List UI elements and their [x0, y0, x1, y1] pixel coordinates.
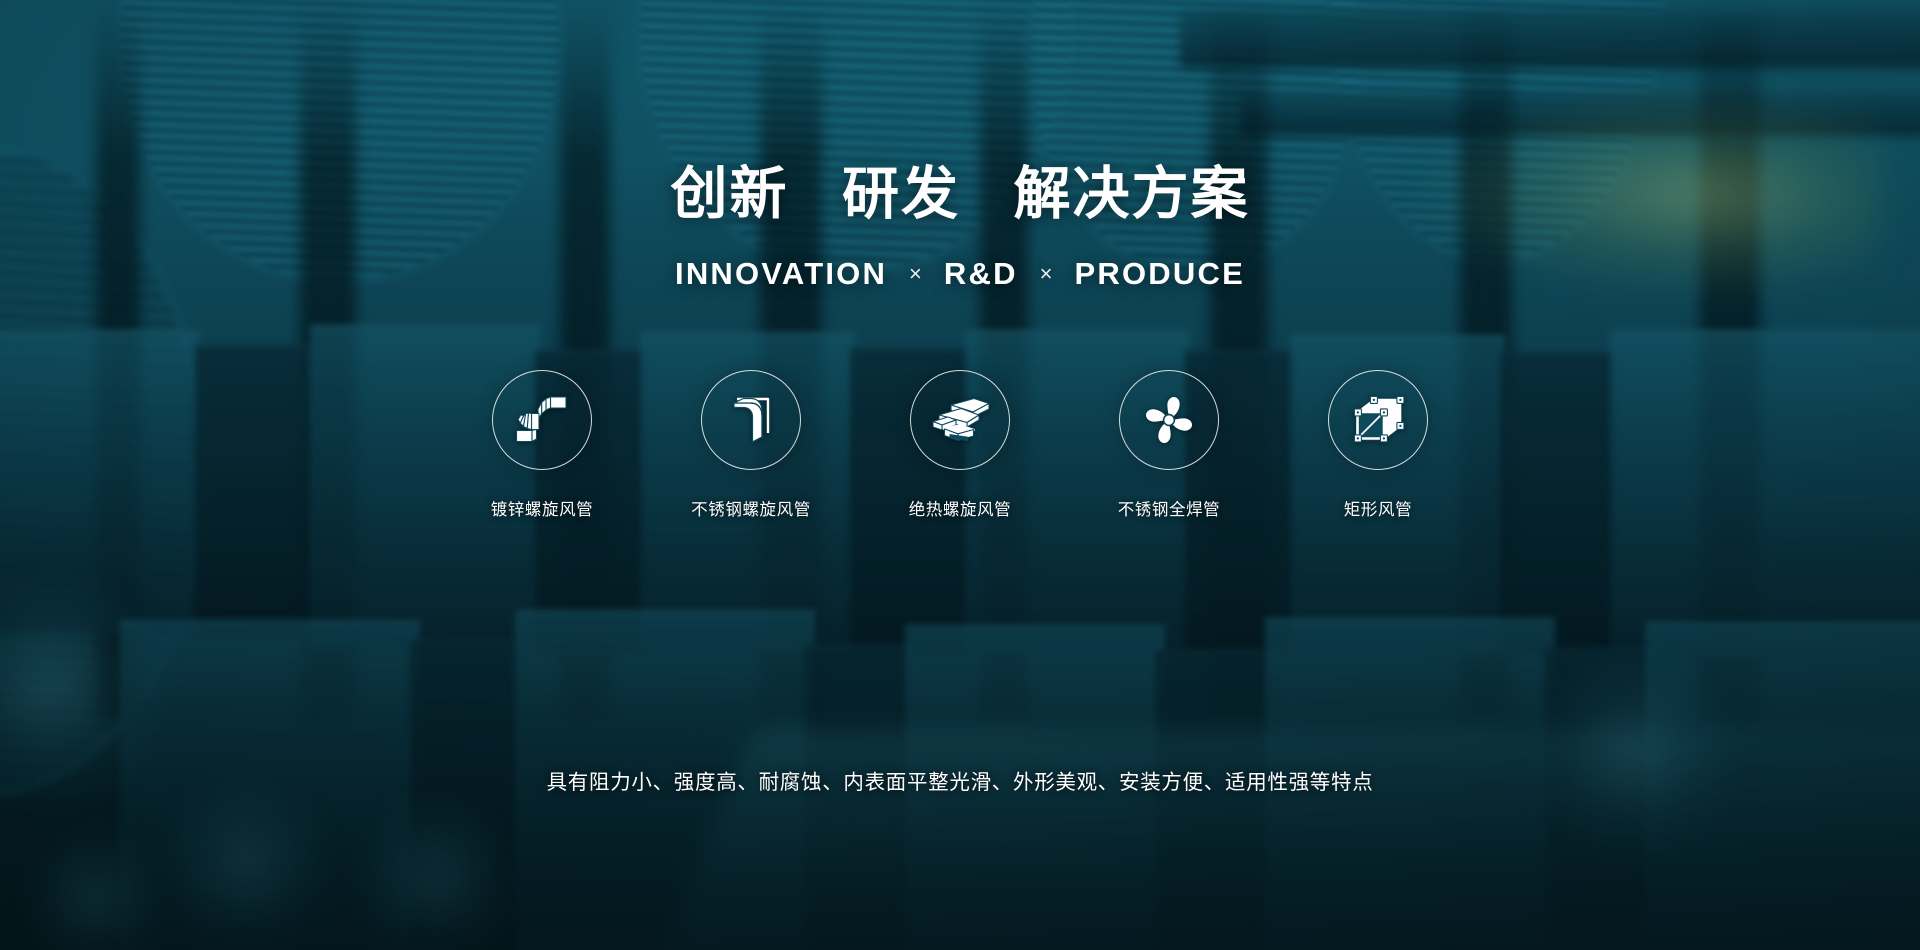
- product-label: 绝热螺旋风管: [909, 496, 1012, 520]
- product-icon-circle[interactable]: [492, 370, 592, 470]
- product-item-stainless-welded-duct[interactable]: 不锈钢全焊管: [1104, 370, 1234, 520]
- product-label: 不锈钢全焊管: [1118, 496, 1221, 520]
- fan-blade-icon: [1142, 393, 1196, 447]
- product-label: 矩形风管: [1344, 496, 1412, 520]
- product-icon-circle[interactable]: [701, 370, 801, 470]
- subtitle-separator-icon: ×: [909, 261, 922, 287]
- rectangular-duct-icon: [1350, 393, 1406, 447]
- features-caption: 具有阻力小、强度高、耐腐蚀、内表面平整光滑、外形美观、安装方便、适用性强等特点: [0, 765, 1920, 795]
- subtitle-separator-icon: ×: [1040, 261, 1053, 287]
- product-label: 镀锌螺旋风管: [491, 496, 594, 520]
- product-item-insulated-spiral-duct[interactable]: 绝热螺旋风管: [895, 370, 1025, 520]
- product-item-galvanized-spiral-duct[interactable]: 镀锌螺旋风管: [477, 370, 607, 520]
- curved-duct-icon: [724, 393, 778, 447]
- spiral-duct-elbow-icon: [513, 393, 571, 447]
- product-item-rectangular-duct[interactable]: 矩形风管: [1313, 370, 1443, 520]
- product-icon-circle[interactable]: [1119, 370, 1219, 470]
- banner-title: 创新 研发 解决方案: [670, 166, 1249, 223]
- subtitle-part-produce: PRODUCE: [1075, 256, 1245, 292]
- product-icon-circle[interactable]: [910, 370, 1010, 470]
- product-label: 不锈钢螺旋风管: [691, 496, 811, 520]
- subtitle-part-rnd: R&D: [944, 256, 1018, 292]
- banner-subtitle: INNOVATION × R&D × PRODUCE: [675, 256, 1245, 292]
- product-icon-row: 镀锌螺旋风管: [477, 370, 1443, 520]
- subtitle-part-innovation: INNOVATION: [675, 256, 887, 292]
- product-icon-circle[interactable]: [1328, 370, 1428, 470]
- hero-banner: 创新 研发 解决方案 INNOVATION × R&D × PRODUCE: [0, 0, 1920, 950]
- insulated-duct-icon: [929, 395, 991, 445]
- product-item-stainless-spiral-duct[interactable]: 不锈钢螺旋风管: [686, 370, 816, 520]
- banner-content: 创新 研发 解决方案 INNOVATION × R&D × PRODUCE: [0, 0, 1920, 950]
